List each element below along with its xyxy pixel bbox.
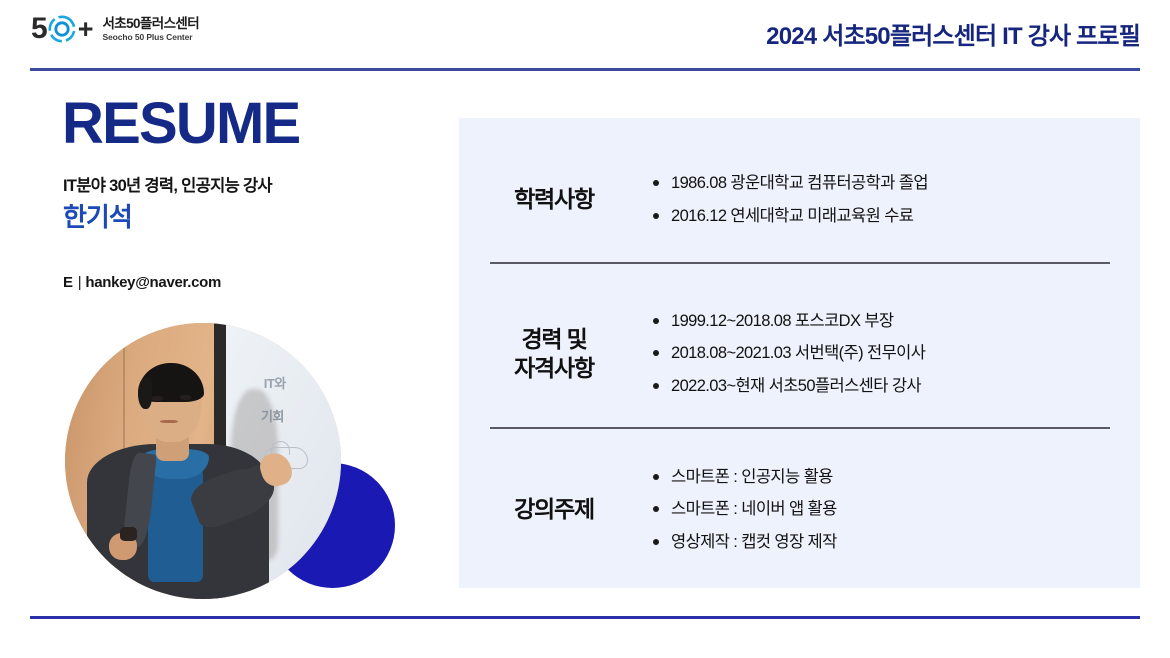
circle-ring-icon bbox=[48, 15, 76, 43]
whiteboard-text-2: 기회 bbox=[261, 406, 284, 425]
left-column: RESUME IT분야 30년 경력, 인공지능 강사 한기석 E|hankey… bbox=[0, 70, 455, 616]
logo-wordmark: 서초50플러스센터 Seocho 50 Plus Center bbox=[102, 15, 199, 43]
section-label-education: 학력사항 bbox=[459, 185, 631, 214]
email-label: E bbox=[63, 274, 73, 291]
profile-tagline: IT분야 30년 경력, 인공지능 강사 bbox=[63, 172, 272, 196]
details-panel: 학력사항 1986.08 광운대학교 컴퓨터공학과 졸업 2016.12 연세대… bbox=[459, 118, 1140, 588]
resume-slide: 5 + 서초50플러스센터 Seocho 50 Plus Center 2024… bbox=[0, 0, 1170, 658]
footer-divider bbox=[30, 616, 1140, 619]
bullet-icon bbox=[653, 350, 659, 356]
list-item-text: 1999.12~2018.08 포스코DX 부장 bbox=[671, 310, 894, 333]
brand-logo[interactable]: 5 + 서초50플러스센터 Seocho 50 Plus Center bbox=[31, 14, 199, 44]
list-item-text: 2018.08~2021.03 서번택(주) 전무이사 bbox=[671, 342, 925, 365]
instructor-name: 한기석 bbox=[63, 202, 132, 233]
page-header: 5 + 서초50플러스센터 Seocho 50 Plus Center 2024… bbox=[0, 0, 1170, 70]
logo-name-en: Seocho 50 Plus Center bbox=[102, 32, 199, 43]
section-divider-1 bbox=[490, 262, 1110, 264]
list-item: 2018.08~2021.03 서번택(주) 전무이사 bbox=[653, 342, 1140, 365]
section-items-career: 1999.12~2018.08 포스코DX 부장 2018.08~2021.03… bbox=[631, 310, 1140, 397]
section-items-lecture-topics: 스마트폰 : 인공지능 활용 스마트폰 : 네이버 앱 활용 영상제작 : 캡컷… bbox=[631, 466, 1140, 553]
logo-plus: + bbox=[78, 16, 94, 43]
bullet-icon bbox=[653, 506, 659, 512]
list-item-text: 2016.12 연세대학교 미래교육원 수료 bbox=[671, 205, 913, 228]
list-item-text: 2022.03~현재 서초50플러스센타 강사 bbox=[671, 375, 921, 398]
email-value[interactable]: hankey@naver.com bbox=[85, 274, 221, 291]
photo-presenter-clicker bbox=[120, 527, 137, 541]
whiteboard-text-1: IT와 bbox=[264, 373, 286, 392]
section-lecture-topics: 강의주제 스마트폰 : 인공지능 활용 스마트폰 : 네이버 앱 활용 영상제작… bbox=[459, 450, 1140, 570]
photo-mouth bbox=[160, 420, 178, 424]
bullet-icon bbox=[653, 180, 659, 186]
section-education: 학력사항 1986.08 광운대학교 컴퓨터공학과 졸업 2016.12 연세대… bbox=[459, 150, 1140, 250]
bullet-icon bbox=[653, 213, 659, 219]
section-items-education: 1986.08 광운대학교 컴퓨터공학과 졸업 2016.12 연세대학교 미래… bbox=[631, 172, 1140, 227]
list-item: 2022.03~현재 서초50플러스센타 강사 bbox=[653, 375, 1140, 398]
resume-heading: RESUME bbox=[62, 95, 299, 153]
instructor-photo: IT와 기회 bbox=[65, 323, 341, 599]
list-item-text: 1986.08 광운대학교 컴퓨터공학과 졸업 bbox=[671, 172, 928, 195]
list-item-text: 스마트폰 : 인공지능 활용 bbox=[671, 466, 833, 489]
list-item: 스마트폰 : 인공지능 활용 bbox=[653, 466, 1140, 489]
photo-eye-left bbox=[152, 396, 163, 400]
logo-number: 5 bbox=[31, 14, 47, 44]
page-title: 2024 서초50플러스센터 IT 강사 프로필 bbox=[766, 16, 1140, 51]
list-item: 영상제작 : 캡컷 영장 제작 bbox=[653, 531, 1140, 554]
list-item-text: 영상제작 : 캡컷 영장 제작 bbox=[671, 531, 837, 554]
contact-separator: | bbox=[78, 274, 82, 291]
contact-email-row: E|hankey@naver.com bbox=[63, 274, 221, 291]
photo-hair-side bbox=[138, 378, 152, 408]
section-career: 경력 및 자격사항 1999.12~2018.08 포스코DX 부장 2018.… bbox=[459, 294, 1140, 414]
logo-mark: 5 + bbox=[31, 14, 93, 44]
logo-name-ko: 서초50플러스센터 bbox=[102, 16, 199, 32]
list-item: 1999.12~2018.08 포스코DX 부장 bbox=[653, 310, 1140, 333]
profile-photo-block: IT와 기회 bbox=[63, 323, 393, 601]
bullet-icon bbox=[653, 539, 659, 545]
section-label-career: 경력 및 자격사항 bbox=[459, 325, 631, 384]
bullet-icon bbox=[653, 318, 659, 324]
section-label-lecture-topics: 강의주제 bbox=[459, 495, 631, 524]
list-item-text: 스마트폰 : 네이버 앱 활용 bbox=[671, 498, 837, 521]
section-divider-2 bbox=[490, 427, 1110, 429]
bullet-icon bbox=[653, 383, 659, 389]
list-item: 스마트폰 : 네이버 앱 활용 bbox=[653, 498, 1140, 521]
list-item: 1986.08 광운대학교 컴퓨터공학과 졸업 bbox=[653, 172, 1140, 195]
photo-eye-right bbox=[180, 395, 191, 399]
bullet-icon bbox=[653, 474, 659, 480]
list-item: 2016.12 연세대학교 미래교육원 수료 bbox=[653, 205, 1140, 228]
